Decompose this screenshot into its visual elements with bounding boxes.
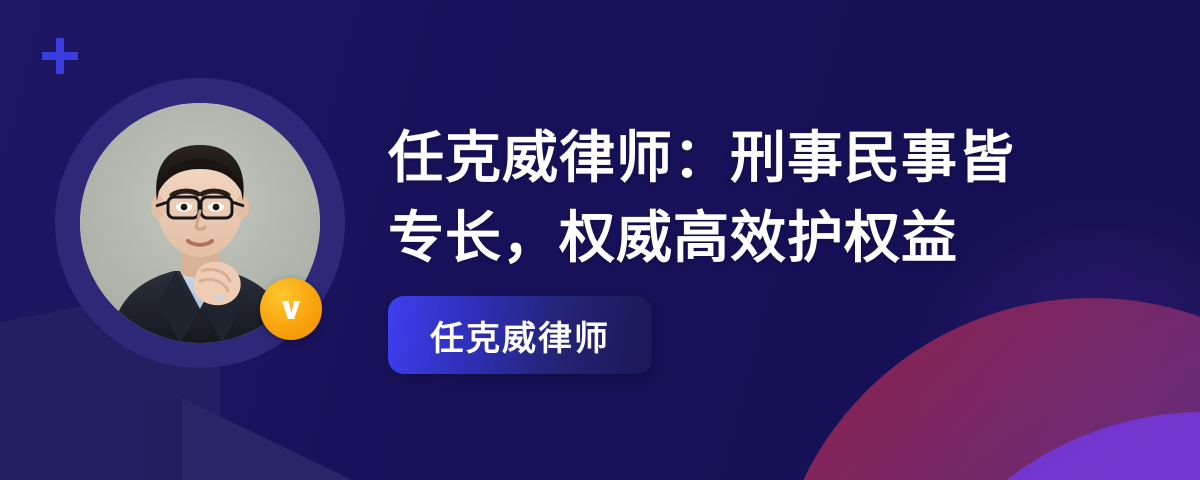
- plus-icon: [40, 36, 80, 76]
- decorative-triangle-bottom-left: [182, 398, 352, 480]
- lawyer-promo-banner: 任克威律师：刑事民事皆 专长，权威高效护权益 任克威律师: [0, 0, 1200, 480]
- decorative-arc-inner: [884, 412, 1200, 480]
- lawyer-name-button[interactable]: 任克威律师: [388, 296, 652, 374]
- verified-badge-icon: [260, 278, 322, 340]
- avatar: [55, 78, 345, 368]
- page-title: 任克威律师：刑事民事皆 专长，权威高效护权益: [388, 118, 1178, 278]
- banner-content: 任克威律师：刑事民事皆 专长，权威高效护权益 任克威律师: [388, 118, 1178, 374]
- decorative-bar-bottom-left: [150, 398, 186, 480]
